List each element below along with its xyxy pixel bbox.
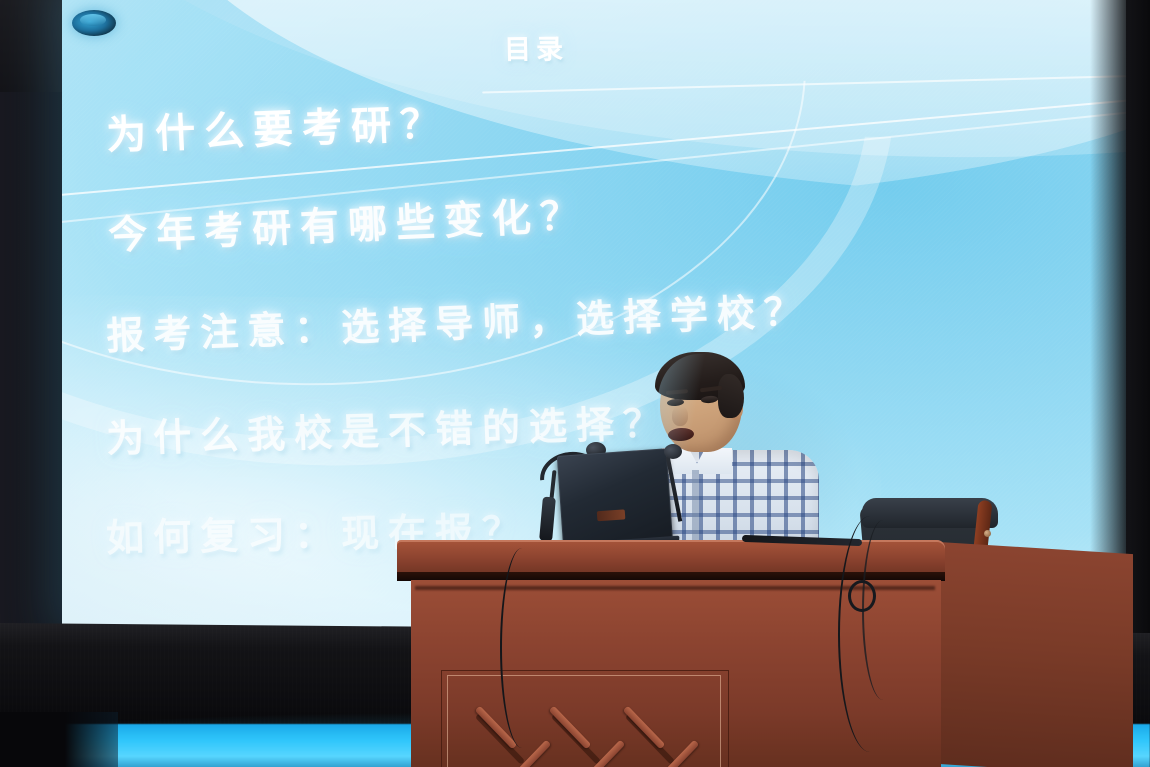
screenshot-root: 目录 为什么要考研？ 今年考研有哪些变化？ 报考注意：选择导师，选择学校？ 为什… — [0, 0, 1150, 767]
chair-stud-upper — [984, 530, 991, 537]
slide-line-3: 报考注意：选择导师，选择学校？ — [105, 280, 812, 360]
laptop-logo-icon — [597, 509, 626, 521]
floor-left-shadow — [0, 712, 118, 767]
microphone-head-secondary-icon — [664, 444, 682, 459]
right-wall-shadow — [1090, 0, 1130, 640]
presenter-rim-light — [658, 354, 746, 454]
cable-coil — [848, 580, 876, 612]
laptop — [557, 448, 673, 551]
ceiling-light-glass — [80, 14, 106, 26]
podium-side-panel — [937, 542, 1133, 767]
slide-line-1: 为什么要考研？ — [105, 91, 450, 161]
slide-line-2: 今年考研有哪些变化？ — [107, 184, 589, 260]
left-wall-pillar — [0, 0, 62, 640]
